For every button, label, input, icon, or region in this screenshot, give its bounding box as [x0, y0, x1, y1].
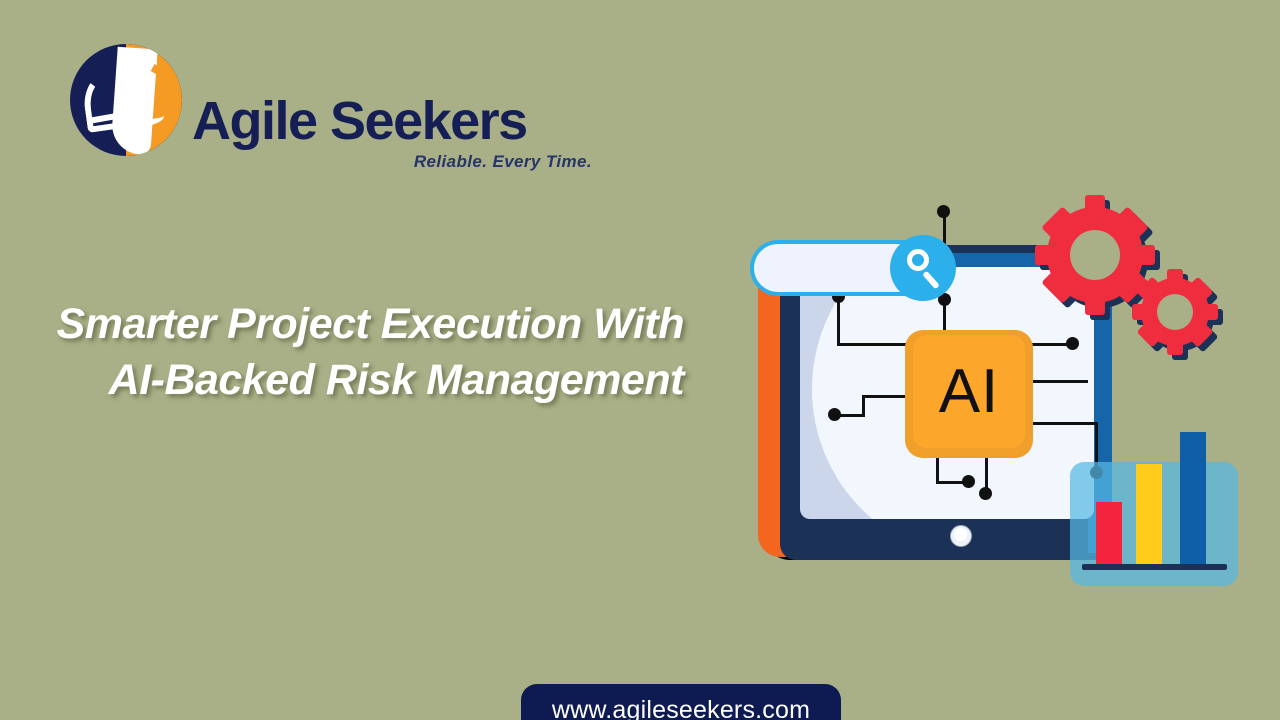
magnifier-handle-icon: [922, 271, 940, 290]
poster-canvas: Agile Seekers Reliable. Every Time. Smar…: [0, 0, 1280, 720]
chart-bar-yellow: [1136, 464, 1162, 564]
website-url-badge[interactable]: www.agileseekers.com: [521, 684, 841, 720]
agile-seekers-swan-monogram-icon: [70, 44, 182, 156]
ai-chip: AI: [905, 330, 1033, 458]
brand-logo[interactable]: Agile Seekers Reliable. Every Time.: [70, 42, 540, 157]
gear-small: [1132, 269, 1218, 355]
ai-chip-face: AI: [913, 335, 1025, 448]
search-button[interactable]: [890, 235, 956, 301]
hero-illustration: AI: [740, 175, 1240, 605]
chart-bar-red: [1096, 502, 1122, 564]
chart-axis-line: [1082, 564, 1227, 570]
website-url-text: www.agileseekers.com: [552, 696, 810, 720]
chart-bar-blue: [1180, 432, 1206, 564]
brand-tagline: Reliable. Every Time.: [192, 152, 592, 172]
brand-wordmark: Agile Seekers: [192, 90, 527, 152]
page-title: Smarter Project Execution With AI-Backed…: [44, 296, 684, 408]
analytics-chart-card: [1070, 462, 1238, 586]
tablet-home-button[interactable]: [950, 525, 972, 547]
ai-chip-label: AI: [939, 361, 1000, 423]
magnifier-icon: [907, 249, 929, 271]
